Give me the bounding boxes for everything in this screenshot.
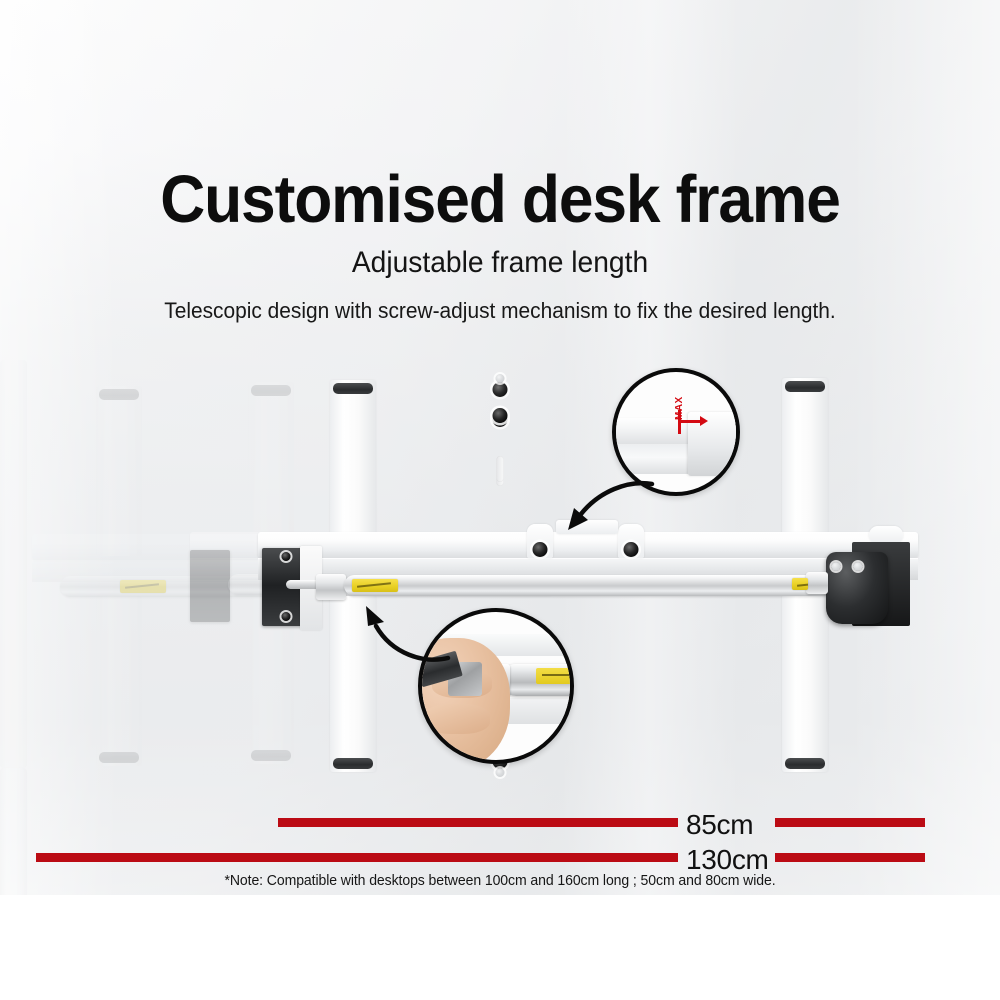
measure-label-130: 130cm [686, 846, 769, 874]
measure-line-130-left [36, 853, 678, 862]
max-arrow-head [700, 416, 708, 426]
lower-white-area [0, 895, 1000, 1000]
foot-bar-ghost-far-bottom [96, 596, 142, 766]
max-arrow-line [680, 420, 702, 423]
warning-sticker-ghost-far [120, 580, 166, 593]
page-title: Customised desk frame [35, 166, 965, 233]
foot-bar-right-bottom [782, 594, 828, 772]
page-subtitle: Adjustable frame length [30, 248, 970, 278]
product-photo: MAX [0, 360, 1000, 800]
callout-warning-sticker [536, 668, 570, 684]
motor-coupler [806, 572, 828, 594]
bracket-block-ghost [190, 550, 230, 622]
motor-bolt-a [832, 562, 841, 571]
warning-sticker-right [792, 578, 808, 590]
warning-sticker [352, 579, 398, 592]
connector-bolt-bottom [282, 612, 291, 621]
telescopic-tube [344, 575, 836, 596]
measure-label-85: 85cm [686, 811, 753, 839]
beam-mount-bolt-left [533, 542, 548, 557]
beam-mount-bolt-right [624, 542, 639, 557]
foot-bar-right-top [782, 378, 828, 558]
page-description: Telescopic design with screw-adjust mech… [25, 300, 975, 322]
motor-bolt-b [854, 562, 863, 571]
max-label: MAX [674, 396, 685, 420]
connector-bolt-top [282, 552, 291, 561]
callout-arrow-screw [352, 598, 456, 664]
compatibility-note: *Note: Compatible with desktops between … [15, 873, 985, 889]
adjust-nut [316, 574, 346, 600]
finger-lower [424, 704, 490, 734]
measure-line-130-right [775, 853, 925, 862]
max-extension-callout[interactable]: MAX [612, 368, 740, 496]
measure-line-85-left [278, 818, 678, 827]
foot-bar-ghost-mid-top [248, 382, 294, 554]
foot-bar-ghost-far-top [96, 386, 142, 556]
leg-post-ghost-far [0, 360, 27, 768]
callout-arrow-max [552, 478, 662, 540]
measure-line-85-right [775, 818, 925, 827]
infographic-page: Customised desk frame Adjustable frame l… [0, 0, 1000, 1000]
